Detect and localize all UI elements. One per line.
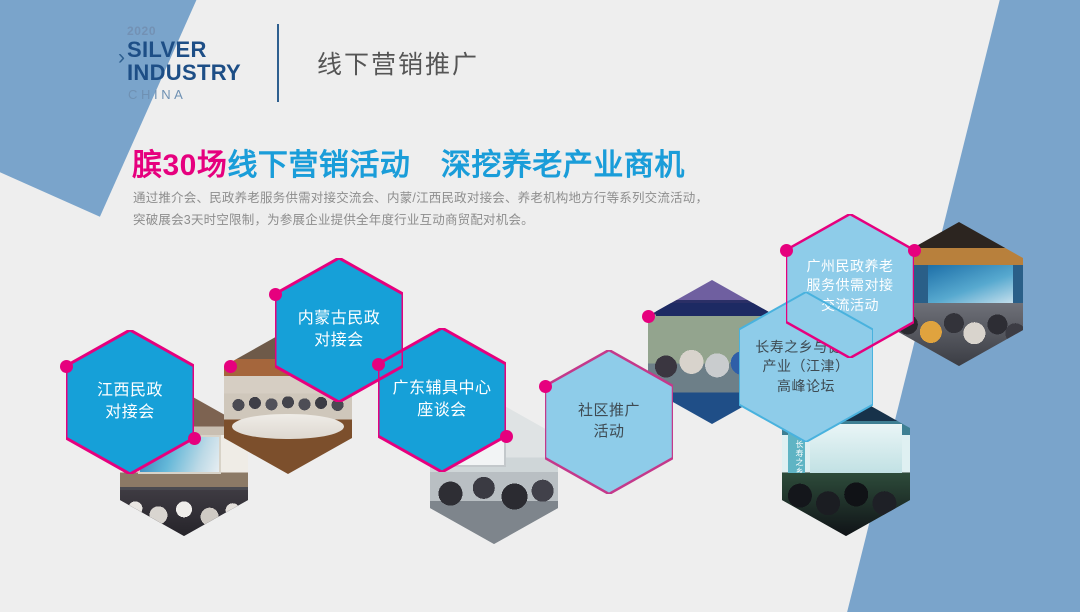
vertex-dot-neimenggu xyxy=(269,288,282,301)
vertex-dot-jiangxi-lower xyxy=(188,432,201,445)
vertex-dot-guangdong-lower xyxy=(500,430,513,443)
event-label-neimenggu: 内蒙古民政 对接会 xyxy=(292,308,387,352)
headline-main-text: 线下营销活动 深挖养老产业商机 xyxy=(227,149,685,182)
slide-header: › 2020 SILVER INDUSTRY CHINA 线下营销推广 xyxy=(118,18,479,108)
vertex-dot-community-booth xyxy=(642,310,655,323)
vertex-dot-guangdong xyxy=(372,358,385,371)
logo-line-silver: SILVER xyxy=(127,39,241,62)
vertex-dot-neimenggu-lower xyxy=(224,360,237,373)
vertex-dot-guangzhou-right xyxy=(908,244,921,257)
vertex-dot-shequ xyxy=(539,380,552,393)
silver-industry-china-logo: › 2020 SILVER INDUSTRY CHINA xyxy=(118,25,241,101)
logo-country: CHINA xyxy=(127,88,241,101)
vertex-dot-guangzhou-left xyxy=(780,244,793,257)
event-label-guangzhou: 广州民政养老 服务供需对接 交流活动 xyxy=(801,257,900,315)
headline: 膑30场线下营销活动 深挖养老产业商机 xyxy=(132,140,685,184)
logo-text-block: 2020 SILVER INDUSTRY CHINA xyxy=(127,25,241,101)
chevron-right-icon: › xyxy=(118,47,125,68)
event-label-shequ: 社区推广 活动 xyxy=(572,401,646,442)
header-divider xyxy=(277,24,279,102)
subtitle-paragraph: 通过推介会、民政养老服务供需对接交流会、内蒙/江西民政对接会、养老机构地方行等系… xyxy=(133,188,713,232)
logo-year: 2020 xyxy=(127,25,241,37)
headline-accent-count: 膑30场 xyxy=(132,149,227,182)
vertex-dot-jiangxi xyxy=(60,360,73,373)
page-title: 线下营销推广 xyxy=(317,45,479,81)
slide-canvas: › 2020 SILVER INDUSTRY CHINA 线下营销推广 膑30场… xyxy=(0,0,1080,612)
event-label-jiangxi: 江西民政 对接会 xyxy=(91,380,169,424)
event-label-guangdong: 广东辅具中心 座谈会 xyxy=(386,378,497,422)
logo-line-industry: INDUSTRY xyxy=(127,62,241,85)
